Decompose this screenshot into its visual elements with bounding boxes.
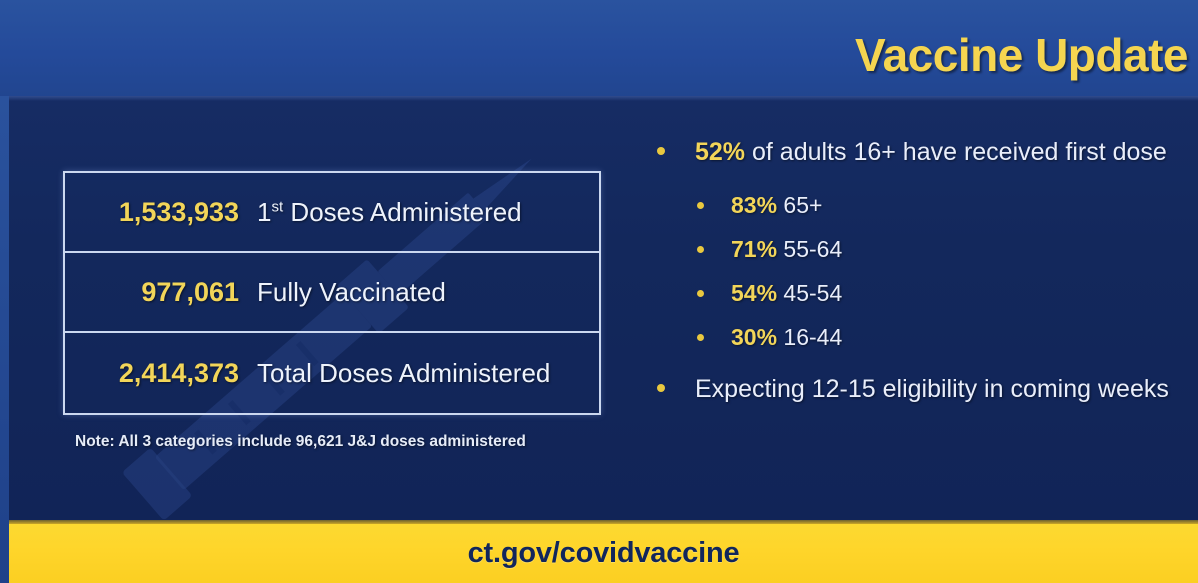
bullet-dot-icon: [697, 290, 704, 297]
stat-label: 1st Doses Administered: [257, 197, 522, 228]
stat-label: Total Doses Administered: [257, 358, 550, 389]
panel-top-glow: [9, 96, 1198, 101]
bullet-text: of adults 16+ have received first dose: [745, 138, 1167, 166]
sub-bullet-percent: 71%: [731, 236, 777, 262]
sub-bullet-percent: 83%: [731, 192, 777, 218]
table-row: 977,061 Fully Vaccinated: [65, 253, 599, 333]
sub-bullet-text: 16-44: [777, 324, 842, 350]
sub-bullet-text: 65+: [777, 192, 822, 218]
list-item: 71% 55-64: [639, 230, 1179, 269]
stat-label-superscript: st: [271, 198, 283, 215]
sub-bullet-text: 45-54: [777, 280, 842, 306]
table-row: 1,533,933 1st Doses Administered: [65, 173, 599, 253]
bullet-text: Expecting 12-15 eligibility in coming we…: [695, 375, 1169, 403]
stat-label: Fully Vaccinated: [257, 277, 446, 308]
table-row: 2,414,373 Total Doses Administered: [65, 333, 599, 413]
bullet-percent: 52%: [695, 138, 745, 166]
sub-bullet-list: 83% 65+ 71% 55-64 54% 45-54 30% 16-44: [639, 186, 1179, 357]
stat-label-rest: Fully Vaccinated: [257, 277, 446, 307]
bullet-list: 52% of adults 16+ have received first do…: [639, 132, 1179, 423]
stat-value: 1,533,933: [65, 197, 257, 228]
list-item: Expecting 12-15 eligibility in coming we…: [639, 369, 1179, 409]
stat-value: 2,414,373: [65, 358, 257, 389]
bullet-dot-icon: [697, 334, 704, 341]
vaccine-update-slide: Vaccine Update 1,533,933 1st Doses Adm: [0, 0, 1198, 583]
list-item: 54% 45-54: [639, 274, 1179, 313]
list-item: 30% 16-44: [639, 318, 1179, 357]
bullet-dot-icon: [657, 147, 665, 155]
bullet-dot-icon: [697, 246, 704, 253]
stat-label-rest: Total Doses Administered: [257, 358, 550, 388]
content-panel: 1,533,933 1st Doses Administered 977,061…: [9, 96, 1198, 522]
stats-table: 1,533,933 1st Doses Administered 977,061…: [63, 171, 601, 415]
sub-bullet-percent: 30%: [731, 324, 777, 350]
stats-note: Note: All 3 categories include 96,621 J&…: [75, 433, 526, 451]
sub-bullet-percent: 54%: [731, 280, 777, 306]
stat-label-rest: Doses Administered: [283, 197, 521, 227]
bullet-dot-icon: [657, 384, 665, 392]
footer-url[interactable]: ct.gov/covidvaccine: [468, 537, 740, 570]
bullet-dot-icon: [697, 202, 704, 209]
list-item: 83% 65+: [639, 186, 1179, 225]
page-title: Vaccine Update: [855, 28, 1188, 82]
list-item: 52% of adults 16+ have received first do…: [639, 132, 1179, 172]
left-edge-strip: [0, 96, 9, 583]
stat-value: 977,061: [65, 277, 257, 308]
sub-bullet-text: 55-64: [777, 236, 842, 262]
stat-label-prefix: 1: [257, 197, 271, 227]
footer-band: ct.gov/covidvaccine: [9, 524, 1198, 583]
